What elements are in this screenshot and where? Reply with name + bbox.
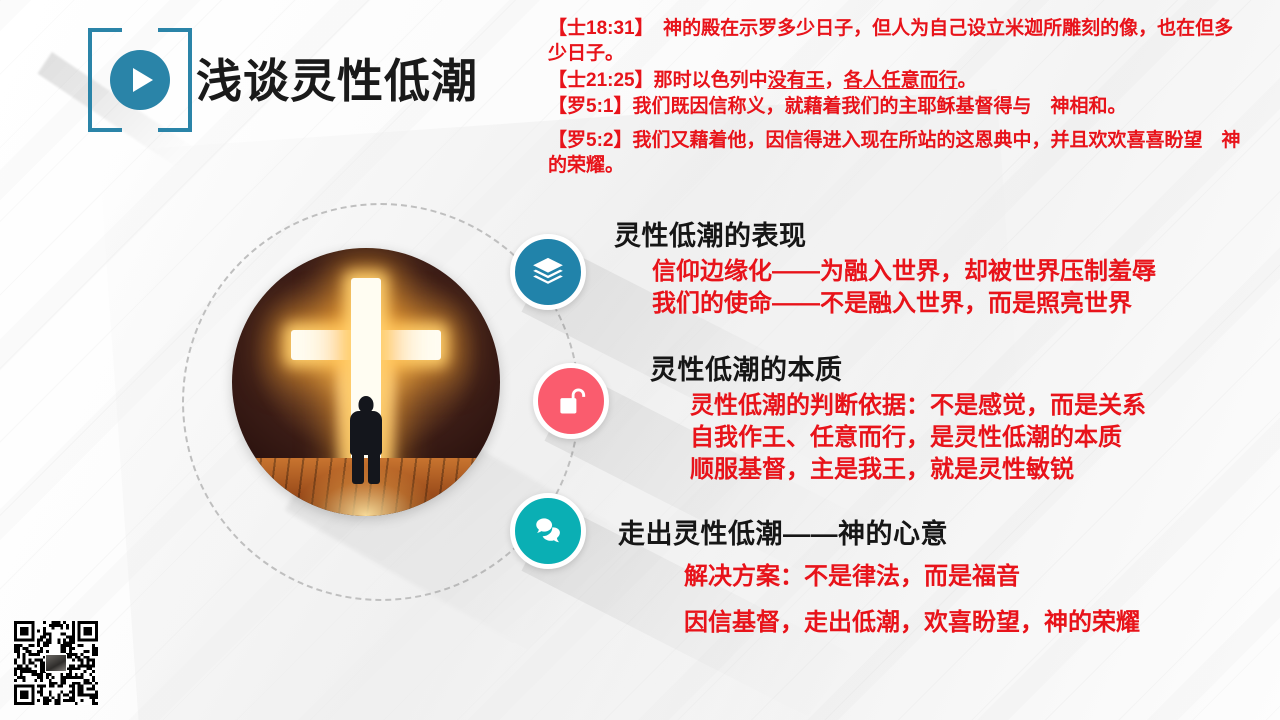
section-point: 灵性低潮的判断依据：不是感觉，而是关系 (690, 390, 1146, 422)
section-title: 灵性低潮的表现 (614, 214, 1156, 253)
unlock-icon[interactable] (533, 363, 609, 439)
section-point: 自我作王、任意而行，是灵性低潮的本质 (690, 422, 1146, 454)
section-3: 走出灵性低潮——神的心意 解决方案：不是律法，而是福音 因信基督，走出低潮，欢喜… (618, 512, 1140, 645)
layers-icon[interactable] (510, 234, 586, 310)
section-2: 灵性低潮的本质 灵性低潮的判断依据：不是感觉，而是关系 自我作王、任意而行，是灵… (650, 348, 1146, 486)
section-point: 我们的使命——不是融入世界，而是照亮世界 (652, 288, 1156, 320)
scripture-block: 【士18:31】 神的殿在示罗多少日子，但人为自己设立米迦所雕刻的像，也在但多少… (548, 16, 1248, 180)
play-circle-icon (110, 50, 170, 110)
chat-bubbles-icon[interactable] (510, 493, 586, 569)
scripture-line: 【士18:31】 神的殿在示罗多少日子，但人为自己设立米迦所雕刻的像，也在但多少… (548, 16, 1248, 67)
section-title: 走出灵性低潮——神的心意 (618, 512, 1140, 551)
section-1: 灵性低潮的表现 信仰边缘化——为融入世界，却被世界压制羞辱 我们的使命——不是融… (614, 214, 1156, 320)
section-point: 信仰边缘化——为融入世界，却被世界压制羞辱 (652, 256, 1156, 288)
section-point: 解决方案：不是律法，而是福音 (684, 554, 1140, 600)
page-title: 浅谈灵性低潮 (196, 45, 478, 111)
section-point: 顺服基督，主是我王，就是灵性敏锐 (690, 454, 1146, 486)
hero-image-cross (232, 248, 500, 516)
scripture-line: 【罗5:2】我们又藉着他，因信得进入现在所站的这恩典中，并且欢欢喜喜盼望 神的荣… (548, 128, 1248, 179)
scripture-line: 【士21:25】那时以色列中没有王，各人任意而行。 (548, 68, 1248, 93)
logo-mark (88, 28, 192, 132)
section-title: 灵性低潮的本质 (650, 348, 1146, 387)
section-point: 因信基督，走出低潮，欢喜盼望，神的荣耀 (684, 600, 1140, 646)
man-silhouette (349, 396, 383, 482)
scripture-line: 【罗5:1】我们既因信称义，就藉着我们的主耶稣基督得与 神相和。 (548, 94, 1248, 119)
qr-center-logo (45, 654, 67, 672)
qr-code[interactable] (14, 621, 98, 705)
